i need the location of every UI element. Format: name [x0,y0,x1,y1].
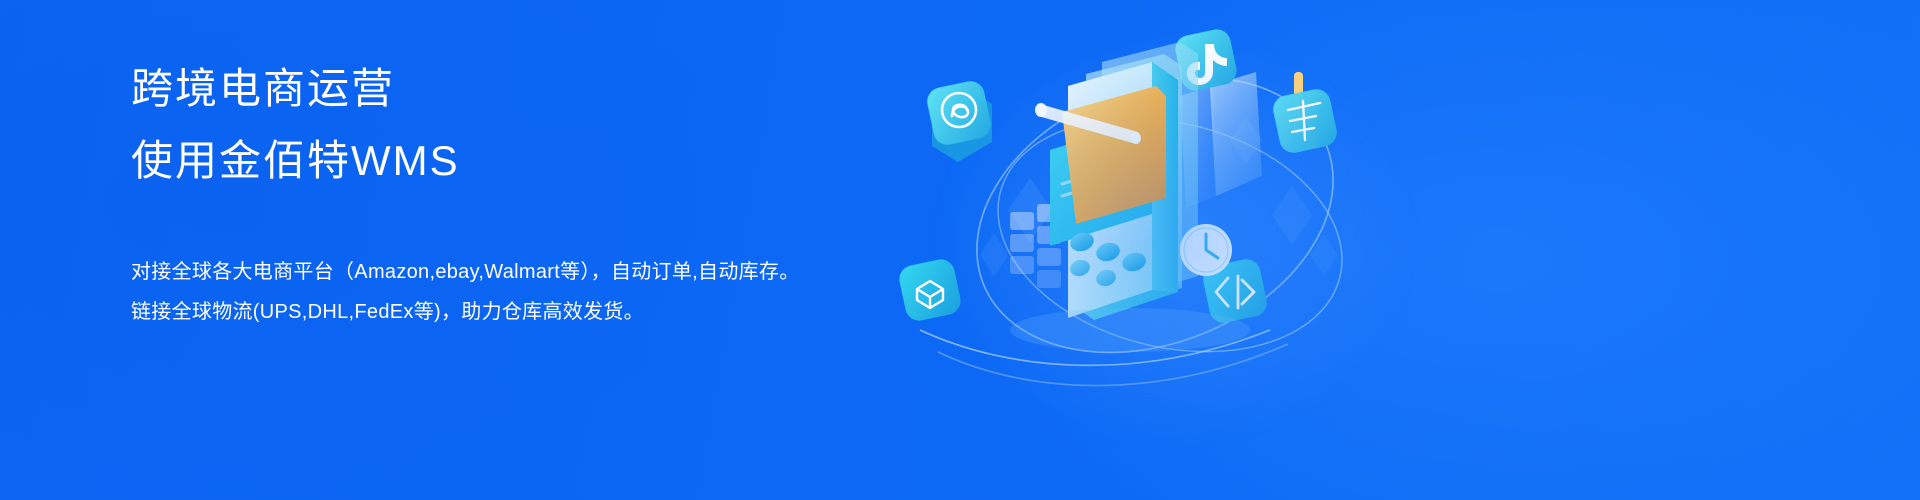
hero-banner: 跨境电商运营 使用金佰特WMS 对接全球各大电商平台（Amazon,ebay,W… [0,0,1920,500]
headline-line-2: 使用金佰特WMS [131,128,851,194]
hero-copy-block: 跨境电商运营 使用金佰特WMS 对接全球各大电商平台（Amazon,ebay,W… [131,56,851,332]
description-line-1: 对接全球各大电商平台（Amazon,ebay,Walmart等），自动订单,自动… [131,252,851,292]
description-line-2: 链接全球物流(UPS,DHL,FedEx等)，助力仓库高效发货。 [131,292,851,332]
headline-line-1: 跨境电商运营 [131,56,851,122]
hero-illustration [880,0,1440,500]
illustration-glow [940,40,1410,440]
